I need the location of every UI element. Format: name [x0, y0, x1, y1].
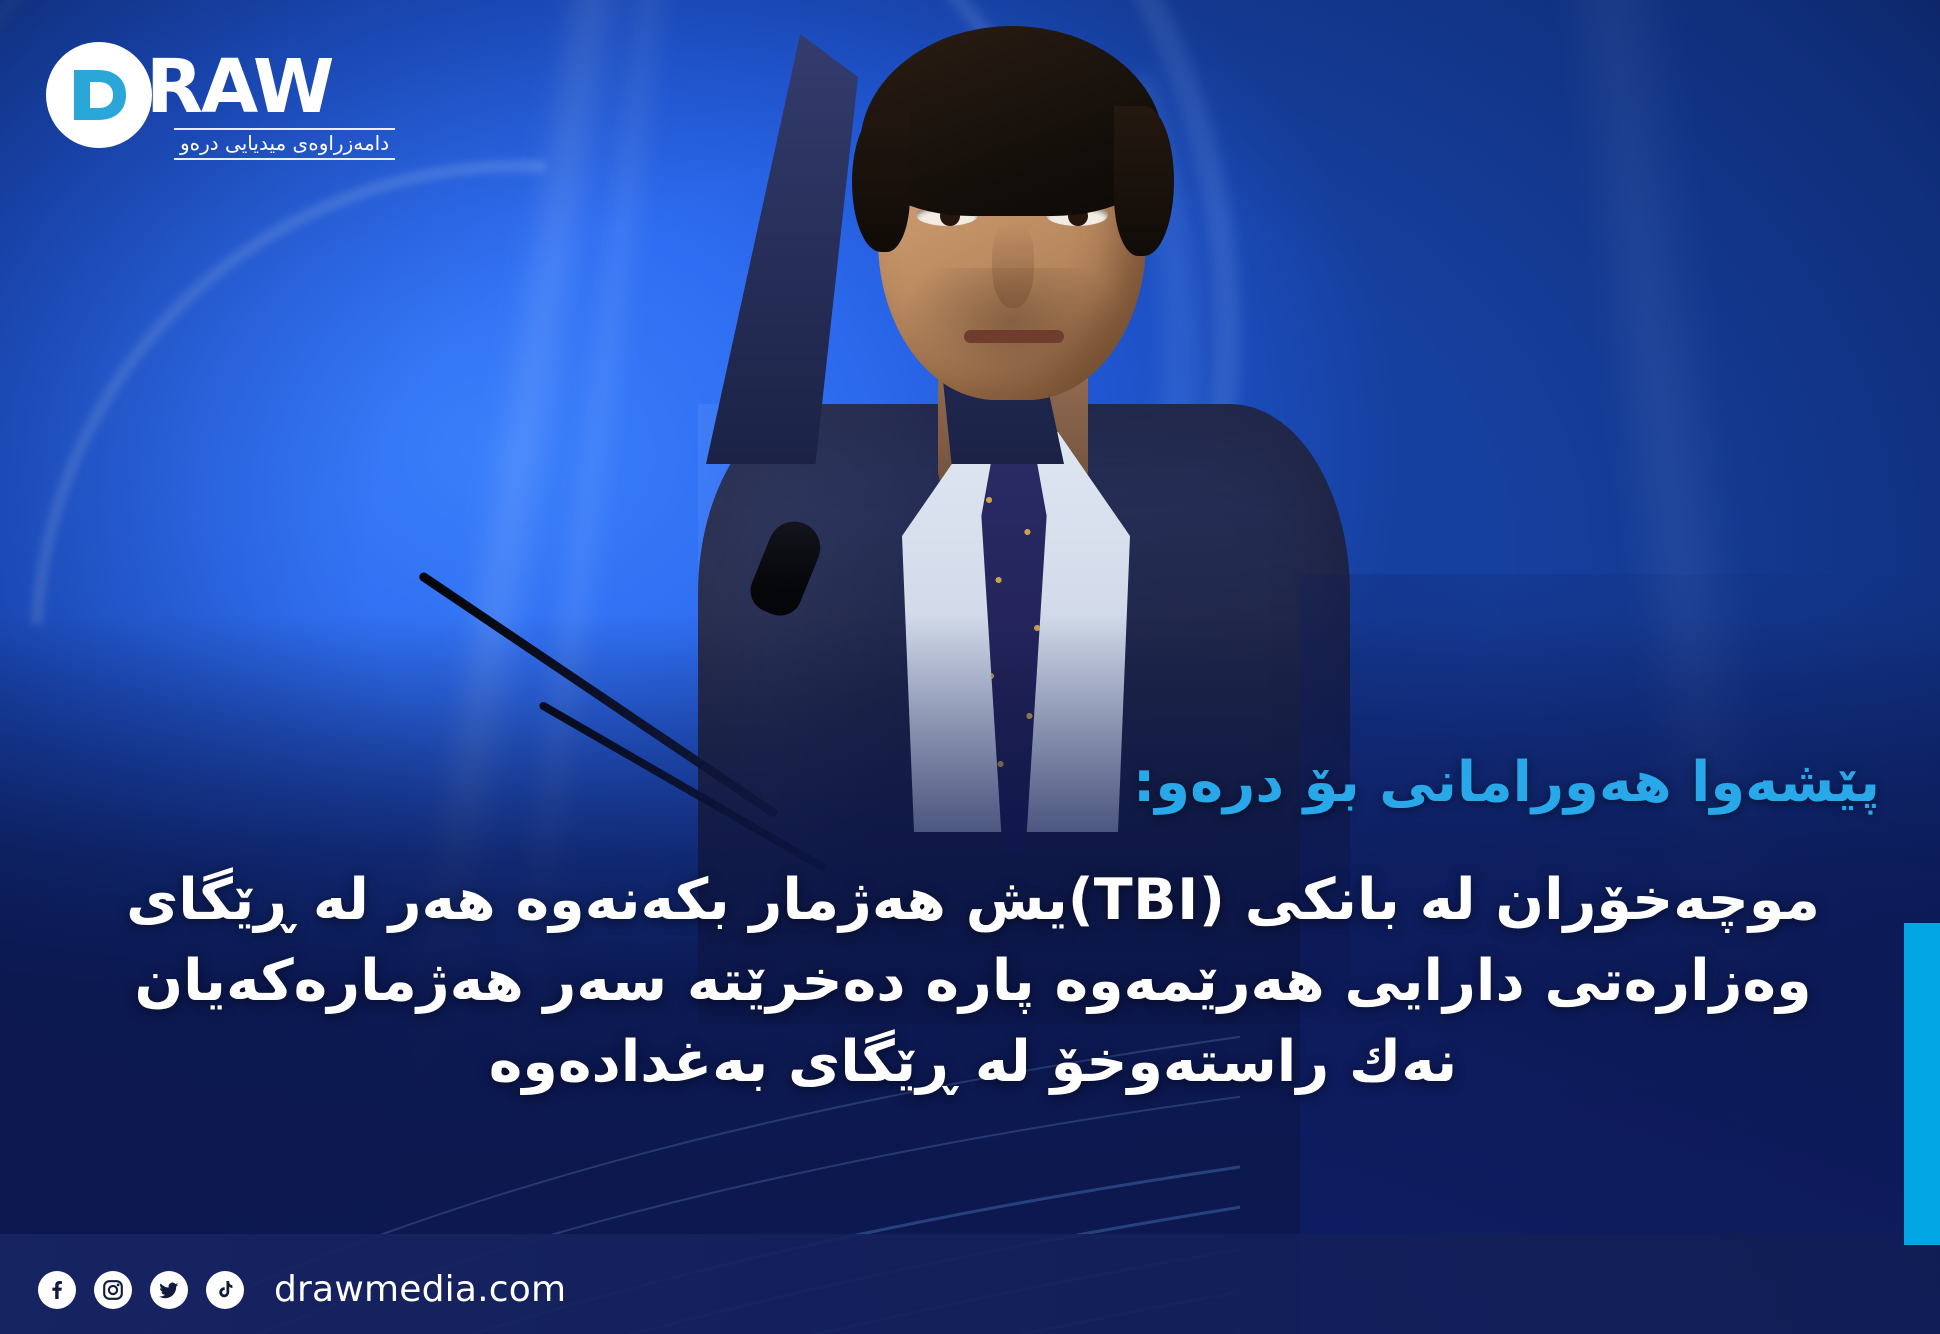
accent-bar — [1904, 923, 1940, 1245]
body-line-3: نەك راستەوخۆ لە ڕێگای بەغدادەوە — [58, 1022, 1888, 1103]
logo-wordmark: RAW — [146, 50, 333, 124]
logo-d-icon — [68, 64, 130, 126]
body-line-2: وەزارەتی دارایی هەرێمەوە پارە دەخرێتە سە… — [58, 941, 1888, 1022]
news-card: RAW دامەزراوەی میدیایی درەو پێشەوا هەورا… — [0, 0, 1940, 1334]
page-title: پێشەوا هەورامانی بۆ درەو: — [60, 748, 1880, 818]
nose — [992, 222, 1034, 308]
tiktok-icon[interactable] — [206, 1271, 244, 1309]
social-links: drawmedia.com — [38, 1269, 566, 1310]
website-url[interactable]: drawmedia.com — [274, 1269, 566, 1310]
logo-subtitle: دامەزراوەی میدیایی درەو — [174, 128, 395, 160]
article-body: موچەخۆران لە بانکی (TBI)یش هەژمار بکەنەو… — [58, 860, 1888, 1103]
mouth — [964, 330, 1064, 343]
hair — [860, 26, 1164, 216]
body-line-1: موچەخۆران لە بانکی (TBI)یش هەژمار بکەنەو… — [58, 860, 1888, 941]
twitter-icon[interactable] — [150, 1271, 188, 1309]
logo-circle-mark — [46, 42, 152, 148]
brand-logo[interactable]: RAW دامەزراوەی میدیایی درەو — [46, 36, 426, 154]
facebook-icon[interactable] — [38, 1271, 76, 1309]
instagram-icon[interactable] — [94, 1271, 132, 1309]
lapel-left — [706, 34, 858, 464]
